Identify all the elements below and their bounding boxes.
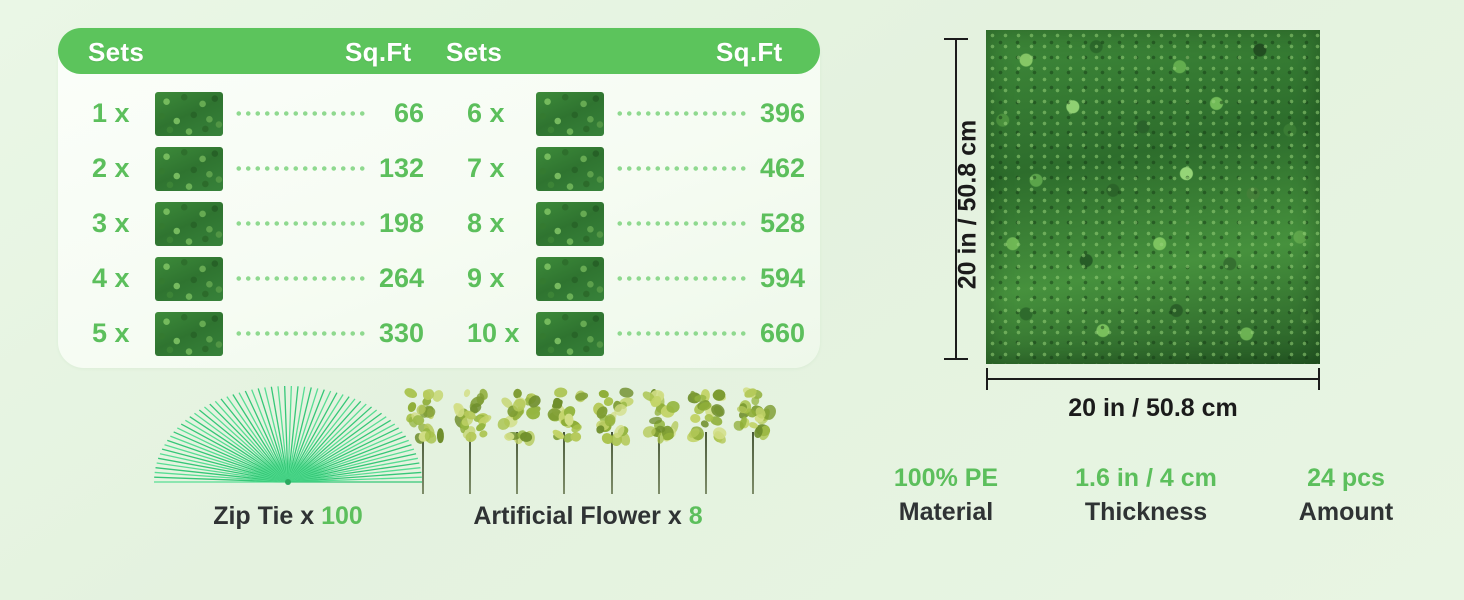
hedge-panel-photo bbox=[986, 30, 1320, 364]
table-row: 4 x 264 9 x 594 bbox=[58, 251, 820, 306]
flower-stem bbox=[543, 386, 585, 496]
stem-stalk bbox=[705, 432, 707, 494]
width-dimension-label: 20 in / 50.8 cm bbox=[986, 394, 1320, 423]
spec-material-key: Material bbox=[846, 496, 1046, 530]
foliage-texture bbox=[986, 30, 1320, 364]
flower-stem bbox=[449, 386, 491, 496]
table-row: 1 x 66 6 x 396 bbox=[58, 86, 820, 141]
table-row: 2 x 132 7 x 462 bbox=[58, 141, 820, 196]
flower-stem bbox=[591, 386, 633, 496]
hedge-swatch-icon bbox=[155, 312, 223, 356]
table-cell-left: 5 x 330 bbox=[58, 306, 439, 361]
spec-amount: 24 pcs Amount bbox=[1246, 462, 1446, 552]
leaf-icon bbox=[407, 401, 416, 412]
accessory-artificial-flower: Artificial Flower x 8 bbox=[398, 378, 778, 538]
row-quantity: 5 x bbox=[92, 318, 164, 349]
leaf-icon bbox=[663, 432, 675, 441]
row-sqft: 594 bbox=[675, 263, 805, 294]
row-quantity: 3 x bbox=[92, 208, 164, 239]
zip-tie-icon bbox=[150, 382, 426, 490]
leaf-icon bbox=[575, 392, 589, 401]
hedge-swatch-icon bbox=[536, 202, 604, 246]
flower-label: Artificial Flower x bbox=[473, 502, 688, 530]
flower-stem-group bbox=[402, 386, 774, 496]
width-dimension-line bbox=[986, 378, 1320, 380]
spec-amount-value: 24 pcs bbox=[1246, 462, 1446, 496]
row-quantity: 2 x bbox=[92, 153, 164, 184]
row-quantity: 6 x bbox=[467, 98, 539, 129]
height-dimension-cap-top bbox=[944, 38, 968, 40]
flower-stem bbox=[402, 386, 444, 496]
width-dimension-cap-left bbox=[986, 368, 988, 390]
table-cell-right: 6 x 396 bbox=[439, 86, 820, 141]
table-cell-left: 2 x 132 bbox=[58, 141, 439, 196]
leaf-icon bbox=[424, 429, 438, 445]
row-sqft: 66 bbox=[294, 98, 424, 129]
spec-amount-key: Amount bbox=[1246, 496, 1446, 530]
hedge-swatch-icon bbox=[155, 257, 223, 301]
height-dimension-label: 20 in / 50.8 cm bbox=[954, 75, 983, 335]
row-sqft: 198 bbox=[294, 208, 424, 239]
stem-stalk bbox=[752, 432, 754, 494]
leaf-icon bbox=[462, 388, 472, 398]
spec-row: 100% PE Material 1.6 in / 4 cm Thickness… bbox=[846, 462, 1446, 552]
header-sets-left: Sets bbox=[88, 37, 144, 68]
height-label-wrap: 20 in / 50.8 cm bbox=[912, 80, 948, 320]
row-quantity: 4 x bbox=[92, 263, 164, 294]
width-dimension-cap-right bbox=[1318, 368, 1320, 390]
infographic-canvas: Sets Sq.Ft Sets Sq.Ft 1 x 66 6 x 396 2 x bbox=[0, 0, 1464, 600]
leaf-icon bbox=[403, 386, 419, 400]
leaf-icon bbox=[710, 387, 727, 404]
row-sqft: 264 bbox=[294, 263, 424, 294]
leaf-icon bbox=[503, 432, 514, 443]
table-cell-right: 8 x 528 bbox=[439, 196, 820, 251]
table-cell-left: 1 x 66 bbox=[58, 86, 439, 141]
flower-count: 8 bbox=[689, 502, 703, 530]
spec-thickness-value: 1.6 in / 4 cm bbox=[1046, 462, 1246, 496]
flower-stem bbox=[685, 386, 727, 496]
header-sqft-right: Sq.Ft bbox=[716, 37, 783, 68]
table-cell-right: 9 x 594 bbox=[439, 251, 820, 306]
leaf-icon bbox=[553, 388, 567, 399]
table-row: 3 x 198 8 x 528 bbox=[58, 196, 820, 251]
hedge-swatch-icon bbox=[155, 202, 223, 246]
spec-material-value: 100% PE bbox=[846, 462, 1046, 496]
row-quantity: 8 x bbox=[467, 208, 539, 239]
table-row: 5 x 330 10 x 660 bbox=[58, 306, 820, 361]
row-sqft: 528 bbox=[675, 208, 805, 239]
spec-material: 100% PE Material bbox=[846, 462, 1046, 552]
height-dimension-cap-bottom bbox=[944, 358, 968, 360]
row-sqft: 330 bbox=[294, 318, 424, 349]
table-cell-right: 7 x 462 bbox=[439, 141, 820, 196]
table-cell-left: 3 x 198 bbox=[58, 196, 439, 251]
coverage-rows: 1 x 66 6 x 396 2 x 132 7 x bbox=[58, 86, 820, 361]
spec-thickness-key: Thickness bbox=[1046, 496, 1246, 530]
hedge-swatch-icon bbox=[536, 257, 604, 301]
row-quantity: 7 x bbox=[467, 153, 539, 184]
row-quantity: 9 x bbox=[467, 263, 539, 294]
row-sqft: 396 bbox=[675, 98, 805, 129]
hedge-swatch-icon bbox=[155, 92, 223, 136]
hedge-swatch-icon bbox=[155, 147, 223, 191]
row-sqft: 660 bbox=[675, 318, 805, 349]
spec-thickness: 1.6 in / 4 cm Thickness bbox=[1046, 462, 1246, 552]
leaf-icon bbox=[498, 418, 511, 431]
zip-tie-label: Zip Tie x bbox=[213, 502, 321, 530]
flower-stem bbox=[732, 386, 774, 496]
flower-stem bbox=[496, 386, 538, 496]
flower-caption: Artificial Flower x 8 bbox=[398, 502, 778, 531]
row-quantity: 1 x bbox=[92, 98, 164, 129]
leaf-icon bbox=[437, 427, 445, 442]
header-sqft-left: Sq.Ft bbox=[345, 37, 412, 68]
flower-stem bbox=[638, 386, 680, 496]
leaf-icon bbox=[666, 400, 681, 415]
hedge-swatch-icon bbox=[536, 92, 604, 136]
leaf-icon bbox=[734, 421, 745, 431]
row-sqft: 462 bbox=[675, 153, 805, 184]
zip-tie-count: 100 bbox=[321, 502, 363, 530]
coverage-table-header: Sets Sq.Ft Sets Sq.Ft bbox=[58, 28, 820, 74]
table-cell-left: 4 x 264 bbox=[58, 251, 439, 306]
hedge-swatch-icon bbox=[536, 312, 604, 356]
header-sets-right: Sets bbox=[446, 37, 502, 68]
leaf-icon bbox=[602, 433, 614, 445]
table-cell-right: 10 x 660 bbox=[439, 306, 820, 361]
hedge-swatch-icon bbox=[536, 147, 604, 191]
row-sqft: 132 bbox=[294, 153, 424, 184]
row-quantity: 10 x bbox=[467, 318, 539, 349]
